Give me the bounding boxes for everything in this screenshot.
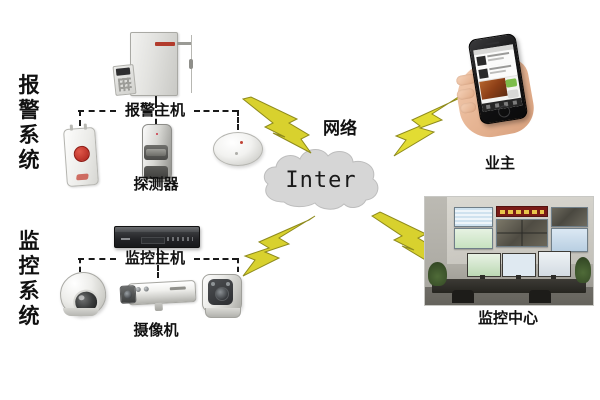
remote-antenna-right xyxy=(84,124,87,130)
alarm-label-char-1: 报 xyxy=(6,72,52,97)
cabinet-brand-logo xyxy=(155,42,175,46)
cam-drop-bullet xyxy=(157,258,159,278)
desk-monitor-2 xyxy=(502,253,536,277)
surveillance-bus-left xyxy=(78,258,116,260)
desk-monitor-3 xyxy=(538,251,572,277)
cloud-text: Inter xyxy=(258,146,384,212)
desk-monitor-1 xyxy=(467,253,501,277)
bullet-camera-body xyxy=(119,278,194,308)
wall-screen-top-right xyxy=(551,207,588,227)
nvr-top-bezel xyxy=(115,227,199,232)
phone-tab-icon-1 xyxy=(486,105,491,110)
wall-led-banner xyxy=(496,206,548,218)
keypad-screen xyxy=(116,67,131,75)
nvr-status-leds xyxy=(121,238,130,240)
remote-antenna-left xyxy=(70,124,73,130)
surveillance-label-char-3: 系 xyxy=(6,278,52,303)
alarm-drop-smoke xyxy=(237,110,239,130)
wall-screen-right xyxy=(551,228,588,252)
surveillance-bus-right xyxy=(194,258,238,260)
phone-text-line-2 xyxy=(488,57,504,61)
nvr-buttons xyxy=(167,237,193,241)
alarm-keypad xyxy=(112,64,136,96)
phone-action-chip[interactable] xyxy=(505,78,517,88)
alarm-host-cabinet xyxy=(130,32,178,96)
phone-text-line-4 xyxy=(490,70,506,74)
alarm-label-char-3: 系 xyxy=(6,122,52,147)
panic-button-body xyxy=(63,127,99,187)
cube-camera-lens xyxy=(215,287,229,301)
network-label: 网络 xyxy=(323,114,357,139)
cube-camera-stand xyxy=(205,308,241,318)
phone-avatar-1 xyxy=(476,56,486,66)
control-center-photo[interactable] xyxy=(424,196,594,306)
bullet-housing xyxy=(127,280,196,306)
cube-camera-device[interactable] xyxy=(200,272,242,320)
phone-speaker xyxy=(485,41,499,45)
alarm-host-device[interactable] xyxy=(112,32,192,98)
lightning-link-alarm-to-cloud xyxy=(243,97,313,155)
phone-tab-icon-4 xyxy=(513,100,518,105)
cube-camera-body xyxy=(202,274,242,312)
dome-camera-device[interactable] xyxy=(58,270,106,318)
alarm-bus-right xyxy=(194,110,238,112)
finger-3 xyxy=(459,101,476,114)
surveillance-label-char-2: 控 xyxy=(6,253,52,278)
panic-button-red[interactable] xyxy=(73,145,90,162)
surveillance-host-caption: 监控主机 xyxy=(116,250,194,266)
surveillance-label-char-4: 统 xyxy=(6,303,52,328)
wall-screen-mid-left xyxy=(454,228,493,248)
pir-status-led xyxy=(156,133,158,135)
bullet-mount-arm xyxy=(155,303,163,311)
pir-detector-device[interactable] xyxy=(140,122,172,182)
operator-chair-2 xyxy=(529,290,551,303)
phone-avatar-2 xyxy=(478,69,488,79)
cabinet-lock-icon xyxy=(189,59,193,69)
surveillance-system-label: 监 控 系 统 xyxy=(6,228,52,328)
finger-2 xyxy=(456,88,475,101)
office-plant-left xyxy=(428,262,446,286)
network-cloud: Inter xyxy=(258,146,384,212)
nvr-recorder-body xyxy=(114,226,200,248)
alarm-bus-left xyxy=(78,110,116,112)
wall-screen-top-left xyxy=(454,207,493,227)
security-system-topology-diagram: 报 警 系 统 报警主机 xyxy=(0,0,600,400)
cube-ir-led-right xyxy=(226,282,230,286)
cube-camera-faceplate xyxy=(208,279,233,305)
keypad-keys xyxy=(118,77,132,91)
dome-camera-base xyxy=(63,308,99,316)
wall-screen-center-quad xyxy=(496,219,548,247)
control-center-caption: 监控中心 xyxy=(424,310,592,326)
pir-fresnel-lens xyxy=(144,145,168,160)
cabinet-brand-text xyxy=(177,42,191,45)
phone-thumbnail-image xyxy=(479,78,507,100)
owner-endpoint[interactable] xyxy=(458,36,542,144)
pir-detector-body xyxy=(142,124,172,182)
alarm-label-char-2: 警 xyxy=(6,97,52,122)
phone-screen[interactable] xyxy=(473,44,522,111)
detectors-caption: 探测器 xyxy=(118,176,194,192)
cam-drop-cube xyxy=(237,258,239,272)
office-plant-right xyxy=(575,257,592,283)
remote-brand-mark xyxy=(76,173,89,180)
lightning-link-surveillance-to-cloud xyxy=(243,216,317,278)
owner-caption: 业主 xyxy=(458,155,542,171)
nvr-display xyxy=(141,237,165,244)
bullet-camera-lens xyxy=(120,285,137,304)
alarm-system-label: 报 警 系 统 xyxy=(6,72,52,172)
alarm-label-char-4: 统 xyxy=(6,147,52,172)
cameras-caption: 摄像机 xyxy=(118,322,194,338)
bullet-camera-device[interactable] xyxy=(120,280,198,312)
operator-chair-1 xyxy=(452,290,474,303)
surveillance-host-device[interactable] xyxy=(114,226,202,250)
emergency-button-device[interactable] xyxy=(63,124,97,184)
lightning-link-cloud-to-owner xyxy=(392,92,468,158)
cube-ir-led-left xyxy=(211,282,215,286)
smoke-test-hole xyxy=(235,152,238,155)
surveillance-label-char-1: 监 xyxy=(6,228,52,253)
